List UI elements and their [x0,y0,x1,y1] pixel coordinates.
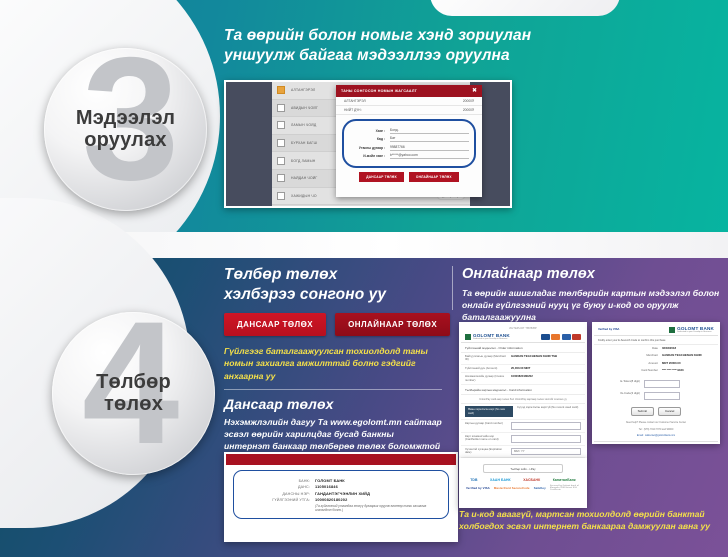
instruction-text: Kindly enter your E-Seventh Code to conf… [594,336,718,345]
step-4-badge-label-line2: төлөх [96,394,171,416]
bank-row: БАНК: ГОЛОМТ БАНК [240,478,442,483]
bank-value: 1105016846 [315,484,338,489]
summary-price: 20000₮ [463,108,474,112]
bank-logo-row: TDB ХААН БАНК ХАСБАНК КапиталБанк [461,476,585,483]
browser-title: ИНТЕРНЭТ ТӨЛБӨР [461,324,585,331]
offline-pay-button[interactable]: ДАНСААР ТӨЛӨХ [224,313,326,336]
icode-row: IG-Code(3 digit) [594,390,718,402]
field-label: Утасны дугаар : [349,146,385,150]
row-checkbox[interactable] [277,121,285,129]
step-3-badge-label-line2: оруулах [76,130,175,152]
bank-value: 10000820180202 [315,497,347,502]
amex-icon [562,334,571,340]
help-line-2: Tel : (976) 7010 7070 and 99000 [594,428,718,435]
modal-title: ТАНЫ СОНГОСОН НОМЫН ЖАГСААЛТ [341,89,417,93]
confirm-value: 02/02/2018 [662,347,714,350]
close-icon[interactable]: ✖ [472,88,477,94]
modal-summary-row: АЛТАНГЭРЭЛ 20000₮ [336,97,482,106]
field-value[interactable]: Бат [390,136,469,142]
card-security-row: Verified by VISA MasterCard SecureCode S… [461,483,585,492]
confirm-row: Date 02/02/2018 [594,345,718,352]
icode-label: IG-Code(3 digit) [598,392,640,400]
form-row: Утасны дугаар : 99887766 [349,145,469,151]
bank-details-box: БАНК: ГОЛОМТ БАНК ДАНС: 1105016846 ДАНСН… [233,470,449,519]
confirm-label: Amount [648,362,658,365]
row-checkbox[interactable] [277,104,285,112]
help-line-1: Need help? Please contact our Customer S… [594,421,718,428]
field-value[interactable]: b*****@yahoo.com [390,153,469,159]
safekey-icon: SafeKey [534,486,546,490]
bank-label: БАНК: [240,479,310,483]
order-value: 10000820180202 [511,375,533,382]
confirm-actions: Submit Cancel [594,402,718,421]
expiry-select[interactable]: MM / YY [511,448,581,455]
modal-form-box: Хаяг : Бопд. Көд : Бат Утасны дугаар : 9… [342,119,476,168]
bank-tagline: Dedicated to your Develop in Business [473,338,510,340]
unionpay-icon [572,334,581,340]
order-section-title: Гүйлгээний мэдээлэл - Order information [461,343,585,353]
bank-value: ГАНДАНТЭГЧЭНЛИН ХИЙД [315,491,370,496]
step-3-heading: Та өөрийн болон номыг хэнд зориулан уншу… [224,26,554,67]
confirm-value: MNT 20000.00 [662,362,714,365]
confirm-label: Card Number [641,369,658,372]
row-checkbox[interactable] [277,174,285,182]
order-value: GANDAN TEGCHENLIN KHIID TSB [511,355,557,362]
icode-input[interactable] [644,392,680,400]
online-pay-button[interactable]: ОНЛАЙНААР ТӨЛӨХ [335,313,450,336]
etoken-input[interactable] [644,380,680,388]
form-row: И-мэйл хаяг : b*****@yahoo.com [349,153,469,159]
pay-method-title-line2: хэлбэрээ сонгоно уу [224,285,442,305]
modal-online-pay-button[interactable]: ОНЛАЙНААР ТӨЛӨХ [409,172,459,182]
e-code-confirm-screenshot[interactable]: Verified by VISA GOLOMT BANK Dedicated t… [592,322,720,444]
field-label: Хаяг : [349,129,385,133]
step-3-screenshot[interactable]: АЛТАНГЭРЭЛ дэлгэрэнгүй АВИДЫН ЧОЙГ дэлгэ… [224,80,512,208]
step-4-badge: 4 Төлбөр төлөх [52,312,215,475]
card-field-row: Карт эзэмшигчийн нэр (Cardholder name on… [461,433,585,446]
tdb-logo: TDB [470,478,477,482]
cancel-button[interactable]: Cancel [658,407,681,416]
capital-bank-logo: КапиталБанк [553,478,576,482]
verified-logo-bar: Verified by VISA GOLOMT BANK Dedicated t… [594,324,718,336]
ipay-header[interactable]: Төлбөр хийх - i-Pay [483,464,563,473]
copyright-text: Copyright © 2005 - 2018 Golomt Bank Term… [594,441,718,444]
confirm-label: Date [652,347,658,350]
online-pay-title: Онлайнаар төлөх [462,265,720,284]
ssl-secured-note: Secured by Golomt bank of Mongolia 2048 … [550,485,580,491]
row-checkbox[interactable] [277,86,285,94]
card-section-title: Төлбөрийн картын мэдээлэл - Card informa… [461,385,585,395]
confirm-value: GANDAN TEGCHENLIN KHIID [662,354,714,357]
card-brand-icons [541,334,582,340]
order-label: Гүйлгээний дүн (Amount) [465,367,507,370]
modal-summary-row: НИЙТ ДҮН : 20000₮ [336,106,482,115]
help-line-3[interactable]: Email : callcenter@golomtbank.com [594,434,718,441]
verified-by-visa-icon: Verified by VISA [466,486,490,490]
modal-actions: ДАНСААР ТӨЛӨХ ОНЛАЙНААР ТӨЛӨХ [336,172,482,182]
screenshot-left-gutter [226,82,272,206]
step-4-badge-label: Төлбөр төлөх [96,372,171,415]
field-label: Өмнө хэрэглэсэн карт (No new card) [465,406,513,416]
step-3-badge-label-line1: Мэдээлэл [76,108,175,130]
visa-icon [541,334,550,340]
mastercard-icon [551,334,560,340]
verified-by-visa-icon: Verified by VISA [598,328,619,331]
card-header-bar [226,454,456,465]
card-field-row: Картын дугаар (Card number) [461,420,585,433]
xac-bank-logo: ХАСБАНК [523,478,540,482]
card-field-row: Өмнө хэрэглэсэн карт (No new card) Сүүлд… [461,404,585,419]
step-3-heading-line1: Та өөрийн болон номыг хэнд зориулан [224,26,554,46]
card-number-input[interactable] [511,422,581,430]
bank-row: ДАНС: 1105016846 [240,484,442,489]
bank-note: (Та гүйлгээний утгандаа энэхүү дугаарыг … [315,504,442,513]
pay-method-title-line1: Төлбөр төлөх [224,265,442,285]
form-row: Көд : Бат [349,136,469,142]
row-checkbox[interactable] [277,139,285,147]
summary-price: 20000₮ [463,99,474,103]
cardholder-name-input[interactable] [511,435,581,443]
field-label: Картын дугаар (Card number) [465,422,507,430]
white-gap-strip [110,232,728,258]
offline-pay-subtext: Нэхэмжлэлийн дагуу Та www.egolomt.mn сай… [224,416,442,453]
infographic-canvas: Та өөрийн болон номыг хэнд зориулан уншу… [0,0,728,557]
form-row: Хаяг : Бопд. [349,128,469,134]
submit-button[interactable]: Submit [631,407,654,416]
divider [224,389,442,390]
bank-value: ГОЛОМТ БАНК [315,478,345,483]
bank-tagline: Dedicated to your Develop in Business [677,331,714,333]
summary-name: АЛТАНГЭРЭЛ [344,99,366,103]
offline-pay-subtitle: Дансаар төлөх [224,396,442,414]
card-field-row: Хүчинтэй хугацаа (Expiration date) MM / … [461,446,585,458]
bank-label: ДАНСНЫ НЭР: [240,492,310,496]
confirm-row: Card Number **** **** **** 9163 [594,367,718,374]
confirm-label: Merchant [646,354,658,357]
order-label: Байгууллагын дугаар (Merchant ID) [465,355,507,362]
order-row: Гүйлгээний дүн (Amount) 20,000.00 MNT [461,365,585,373]
field-value[interactable]: Бопд. [390,128,469,134]
order-row: Нэхэмжлэхийн дугаар (Invoice number) 100… [461,373,585,385]
golomt-mark-icon [465,334,471,340]
bank-row: ДАНСНЫ НЭР: ГАНДАНТЭГЧЭНЛИН ХИЙД [240,491,442,496]
field-value: Сүүлд хэрэглэсэн картгүй (No recent used… [517,406,581,416]
bank-details-card: БАНК: ГОЛОМТ БАНК ДАНС: 1105016846 ДАНСН… [224,452,458,542]
modal-header: ТАНЫ СОНГОСОН НОМЫН ЖАГСААЛТ ✖ [336,85,482,97]
order-row: Байгууллагын дугаар (Merchant ID) GANDAN… [461,353,585,365]
confirm-row: Amount MNT 20000.00 [594,360,718,367]
field-label: Карт эзэмшигчийн нэр (Cardholder name on… [465,435,507,443]
etoken-label: E-Token(8 digit) [598,380,640,388]
payment-logos-panel: Төлбөр хийх - i-Pay TDB ХААН БАНК ХАСБАН… [459,458,587,508]
modal-offline-pay-button[interactable]: ДАНСААР ТӨЛӨХ [359,172,404,182]
khan-bank-logo: ХААН БАНК [490,478,511,482]
bank-row: ГҮЙЛГЭЭНИЙ УТГА: 10000820180202 [240,497,442,502]
step-3-badge: 3 Мэдээлэл оруулах [44,48,207,211]
order-label: Нэхэмжлэхийн дугаар (Invoice number) [465,375,507,382]
etoken-row: E-Token(8 digit) [594,378,718,390]
step-3-heading-line2: уншуулж байгаа мэдээллээ оруулна [224,46,554,66]
step-3-badge-label: Мэдээлэл оруулах [76,108,175,151]
online-pay-subtext: Та өөрийн ашигладаг төлбөрийн картын мэд… [462,287,720,324]
field-label: Көд : [349,137,385,141]
golomt-mark-icon [669,327,675,333]
step-4-right-column: Онлайнаар төлөх Та өөрийн ашигладаг төлб… [462,265,720,323]
confirm-value: **** **** **** 9163 [662,369,714,372]
confirm-note: Гүйлгээг баталгаажуулсан тохиолдолд таны… [224,345,442,382]
golomt-bank-logo: GOLOMT BANK Dedicated to your Develop in… [465,333,510,340]
order-value: 20,000.00 MNT [511,367,530,370]
bank-label: ДАНС: [240,485,310,489]
step-4-left-column: Төлбөр төлөх хэлбэрээ сонгоно уу ДАНСААР… [224,265,442,453]
field-value[interactable]: 99887766 [390,145,469,151]
step-4-badge-label-line1: Төлбөр [96,372,171,394]
summary-name: НИЙТ ДҮН : [344,108,362,112]
field-label: Хүчинтэй хугацаа (Expiration date) [465,448,507,455]
order-modal: ТАНЫ СОНГОСОН НОМЫН ЖАГСААЛТ ✖ АЛТАНГЭРЭ… [336,85,482,197]
icode-help-note: Та и-код аваагүй, мартсан тохиолдолд өөр… [459,508,721,533]
column-divider [452,266,453,310]
bank-logo-bar: GOLOMT BANK Dedicated to your Develop in… [461,331,585,343]
bank-label: ГҮЙЛГЭЭНИЙ УТГА: [240,498,310,502]
mastercard-securecode-icon: MasterCard SecureCode [494,486,530,490]
unionpay-note: UnionPay card-аар төлөх бол UnionPay кар… [461,395,585,404]
pay-method-buttons: ДАНСААР ТӨЛӨХ ОНЛАЙНААР ТӨЛӨХ [224,313,442,336]
online-payment-form-screenshot[interactable]: ИНТЕРНЭТ ТӨЛБӨР GOLOMT BANK Dedicated to… [459,322,587,461]
golomt-bank-logo: GOLOMT BANK Dedicated to your Develop in… [669,326,714,333]
confirm-row: Merchant GANDAN TEGCHENLIN KHIID [594,352,718,359]
row-checkbox[interactable] [277,157,285,165]
pay-method-title: Төлбөр төлөх хэлбэрээ сонгоно уу [224,265,442,305]
top-tab-notch [430,0,620,16]
field-label: И-мэйл хаяг : [349,154,385,158]
row-checkbox[interactable] [277,192,285,200]
